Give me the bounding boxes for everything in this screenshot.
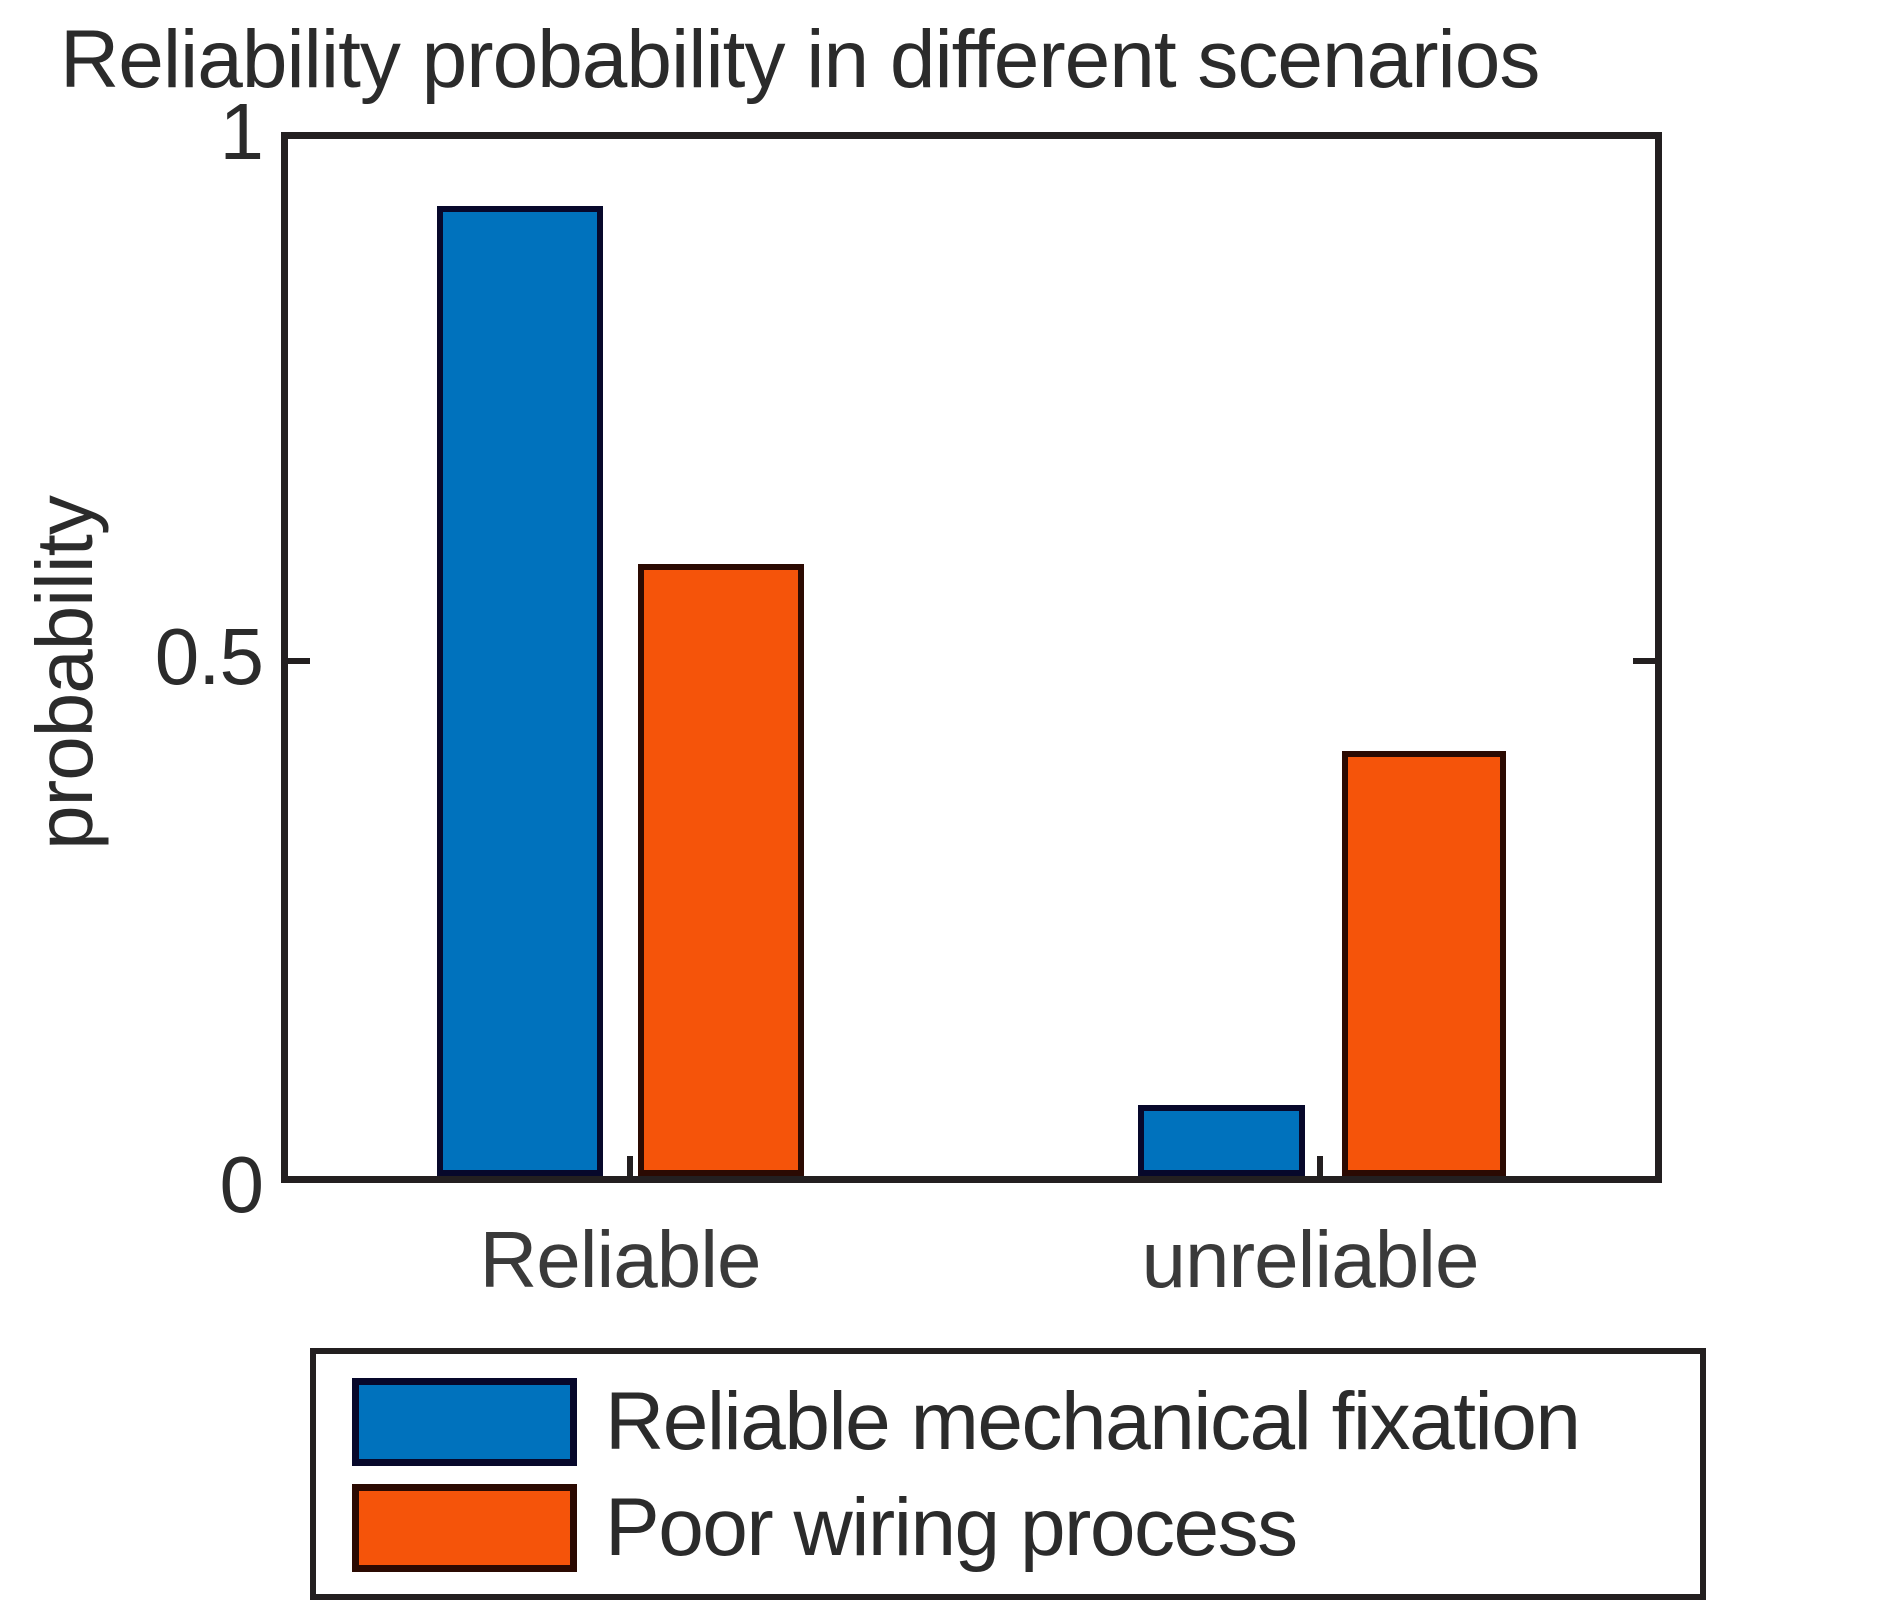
bar-unreliable-poor-wiring-process <box>1342 751 1506 1176</box>
plot-inner <box>288 139 1655 1176</box>
y-tick-label-0: 0 <box>220 1145 264 1225</box>
bar-unreliable-reliable-mechanical-fixation <box>1138 1105 1305 1176</box>
legend-item-poor-wiring-process: Poor wiring process <box>352 1482 1297 1574</box>
y-tick-mark-left-0.5 <box>288 658 310 664</box>
plot-area <box>281 132 1662 1183</box>
legend-item-reliable-mechanical-fixation: Reliable mechanical fixation <box>352 1376 1579 1468</box>
bar-reliable-reliable-mechanical-fixation <box>437 206 603 1176</box>
legend-label-series-1: Poor wiring process <box>605 1484 1297 1572</box>
x-tick-mark-reliable <box>627 1156 633 1176</box>
bar-reliable-poor-wiring-process <box>638 564 804 1176</box>
y-tick-label-0.5: 0.5 <box>155 617 263 697</box>
y-tick-label-1: 1 <box>220 92 264 172</box>
x-tick-label-unreliable: unreliable <box>1060 1217 1560 1303</box>
chart-legend: Reliable mechanical fixation Poor wiring… <box>310 1348 1706 1600</box>
y-tick-mark-right-0.5 <box>1633 658 1655 664</box>
legend-swatch-icon-series-1 <box>352 1484 577 1572</box>
x-tick-mark-unreliable <box>1317 1156 1323 1176</box>
x-tick-label-reliable: Reliable <box>370 1217 870 1303</box>
legend-swatch-icon-series-0 <box>352 1378 577 1466</box>
legend-label-series-0: Reliable mechanical fixation <box>605 1378 1579 1466</box>
chart-title: Reliability probability in different sce… <box>60 14 1890 106</box>
y-axis-label: probability <box>22 363 108 983</box>
